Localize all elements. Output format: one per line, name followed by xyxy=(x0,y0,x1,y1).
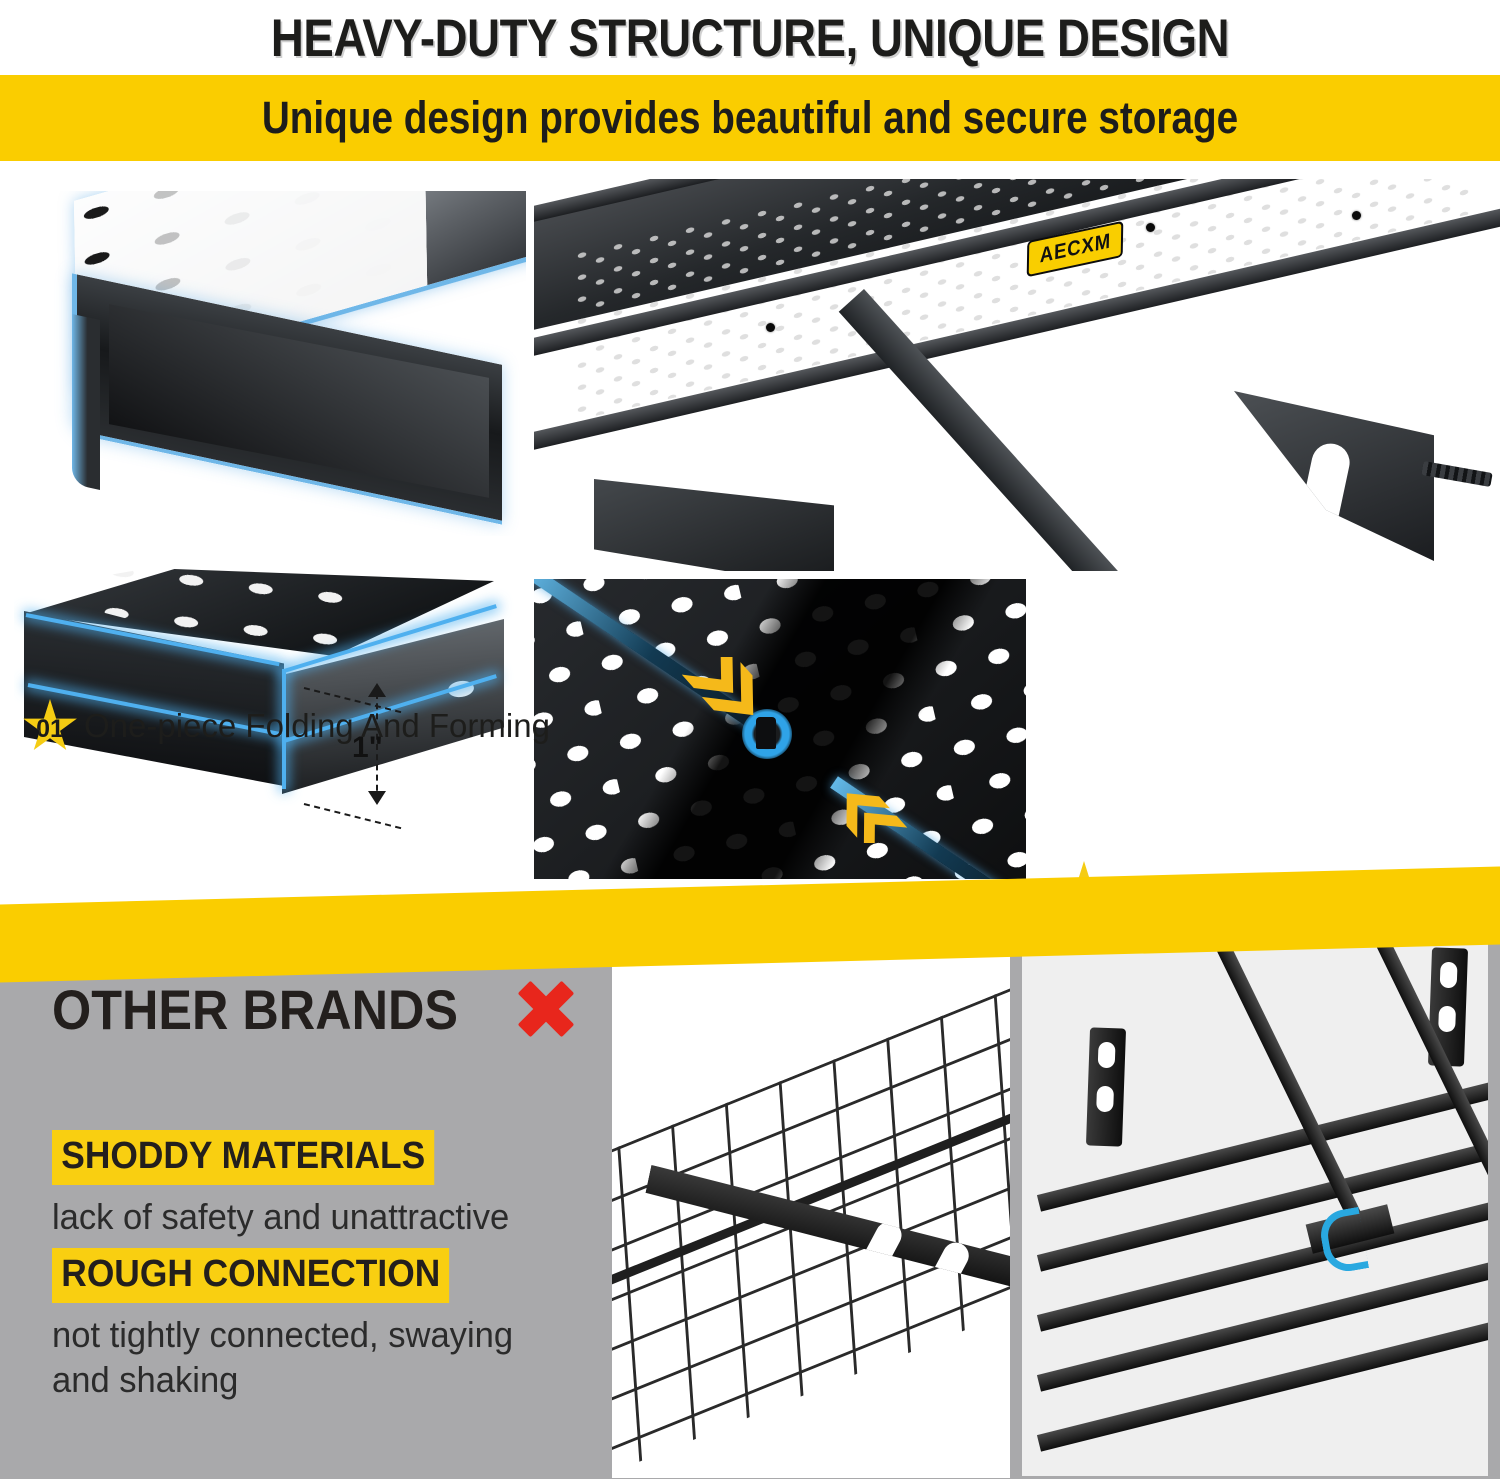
feature-image-slide-rail xyxy=(534,579,1026,879)
rack-cross-rail xyxy=(1204,942,1362,1221)
comparison-photo-wire-mesh xyxy=(612,950,1010,1478)
features-section: 1" AECXM xyxy=(0,161,1500,921)
screw-hole xyxy=(766,323,775,332)
wall-bracket-right xyxy=(1234,391,1434,561)
dimension-leader-line xyxy=(304,803,402,829)
infographic-page: HEAVY-DUTY STRUCTURE, UNIQUE DESIGN Uniq… xyxy=(0,0,1500,1479)
wall-bracket-left xyxy=(594,479,834,571)
comparison-point-title: ROUGH CONNECTION xyxy=(52,1248,450,1303)
screw-hole xyxy=(1146,223,1155,232)
rack-slat xyxy=(1037,1261,1488,1391)
comparison-heading: OTHER BRANDS xyxy=(52,970,585,1048)
comparison-text-column: OTHER BRANDS SHODDY MATERIALS lack of sa… xyxy=(0,936,600,1479)
comparison-heading-label: OTHER BRANDS xyxy=(52,977,458,1042)
callout-text: One-piece Folding And Forming xyxy=(84,699,550,746)
callout-number: 01 xyxy=(36,715,64,744)
rack-illustration: AECXM xyxy=(534,179,1500,571)
bolt-icon xyxy=(756,717,776,749)
channel-folded-lip xyxy=(72,314,100,490)
hero-product-image: AECXM xyxy=(534,179,1500,571)
callout-01: 01 One-piece Folding And Forming xyxy=(22,699,550,755)
arrow-down-icon xyxy=(368,791,386,805)
star-badge-icon: 01 xyxy=(22,699,78,755)
comparison-point-1: SHODDY MATERIALS lack of safety and unat… xyxy=(52,1130,528,1239)
comparison-point-title: SHODDY MATERIALS xyxy=(52,1130,434,1185)
page-subtitle: Unique design provides beautiful and sec… xyxy=(105,75,1395,161)
screw-hole xyxy=(1352,211,1361,220)
comparison-section: OTHER BRANDS SHODDY MATERIALS lack of sa… xyxy=(0,936,1500,1479)
comparison-photo-slat-rack xyxy=(1022,942,1488,1476)
feature-image-one-piece-channel xyxy=(14,191,526,536)
bracket-cutout xyxy=(1297,440,1353,538)
rack-slat xyxy=(1037,1201,1488,1331)
rack-slat xyxy=(1037,1141,1488,1271)
page-title: HEAVY-DUTY STRUCTURE, UNIQUE DESIGN xyxy=(105,2,1395,74)
arrow-up-icon xyxy=(368,683,386,697)
x-cross-icon xyxy=(507,970,585,1048)
slat-rack-illustration xyxy=(1022,942,1488,1476)
comparison-point-2: ROUGH CONNECTION not tightly connected, … xyxy=(52,1248,600,1402)
rack-slat xyxy=(1037,1321,1488,1451)
wall-bracket-left xyxy=(1086,1027,1126,1146)
comparison-point-detail: lack of safety and unattractive xyxy=(52,1194,509,1239)
channel-illustration xyxy=(14,191,526,536)
comparison-point-detail: not tightly connected, swaying and shaki… xyxy=(52,1312,578,1402)
